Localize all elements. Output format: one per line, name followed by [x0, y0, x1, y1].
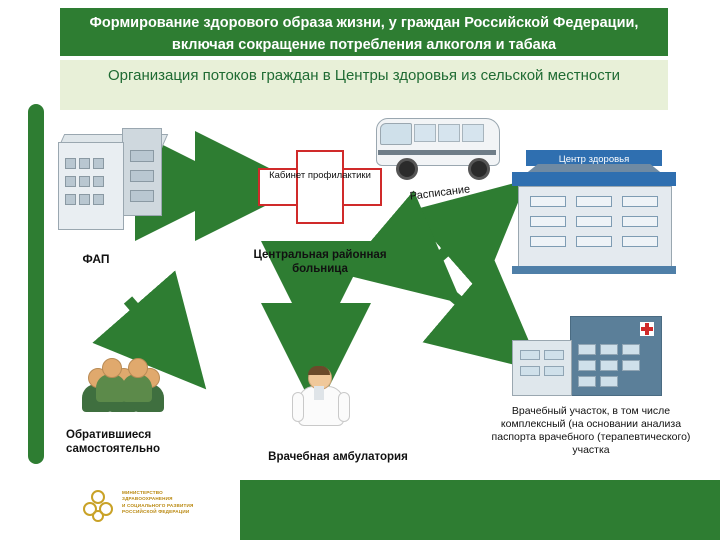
label-self-referred: Обратившиеся самостоятельно: [66, 428, 188, 456]
slide-subtitle: Организация потоков граждан в Центры здо…: [60, 60, 668, 110]
label-bus-schedule: Расписание: [388, 180, 493, 207]
ministry-emblem-icon: [80, 488, 116, 524]
arrow-hospital-to-district: [420, 268, 500, 336]
label-fap: ФАП: [56, 252, 136, 266]
arrow-hospital-to-healthcenter: [420, 216, 486, 274]
doctor-icon: [292, 366, 348, 424]
slide-title: Формирование здорового образа жизни, у г…: [60, 8, 668, 56]
label-outpatient-clinic: Врачебная амбулатория: [250, 450, 426, 464]
arrow-fap-to-people: [128, 300, 170, 348]
health-center-building-icon: Центр здоровья: [512, 150, 676, 274]
people-group-icon: [80, 350, 172, 416]
bus-icon: [372, 110, 502, 182]
ministry-logo: МИНИСТЕРСТВО ЗДРАВООХРАНЕНИЯ И СОЦИАЛЬНО…: [80, 486, 250, 530]
ministry-text: МИНИСТЕРСТВО ЗДРАВООХРАНЕНИЯ И СОЦИАЛЬНО…: [122, 490, 250, 516]
red-cross-icon: Кабинет профилактики: [258, 150, 382, 224]
label-prevention-office: Кабинет профилактики: [266, 170, 374, 181]
slide-canvas: Формирование здорового образа жизни, у г…: [0, 0, 720, 540]
hospital-building-icon: [512, 310, 660, 396]
bottom-accent-bar: [240, 480, 720, 540]
label-central-hospital: Центральная районная больница: [248, 248, 392, 276]
building-icon: [58, 128, 162, 228]
left-accent-bar: [28, 104, 44, 464]
label-medical-district: Врачебный участок, в том числе комплексн…: [484, 405, 698, 457]
ministry-line-4: РОССИЙСКОЙ ФЕДЕРАЦИИ: [122, 509, 250, 515]
label-health-center: Центр здоровья: [512, 154, 676, 165]
